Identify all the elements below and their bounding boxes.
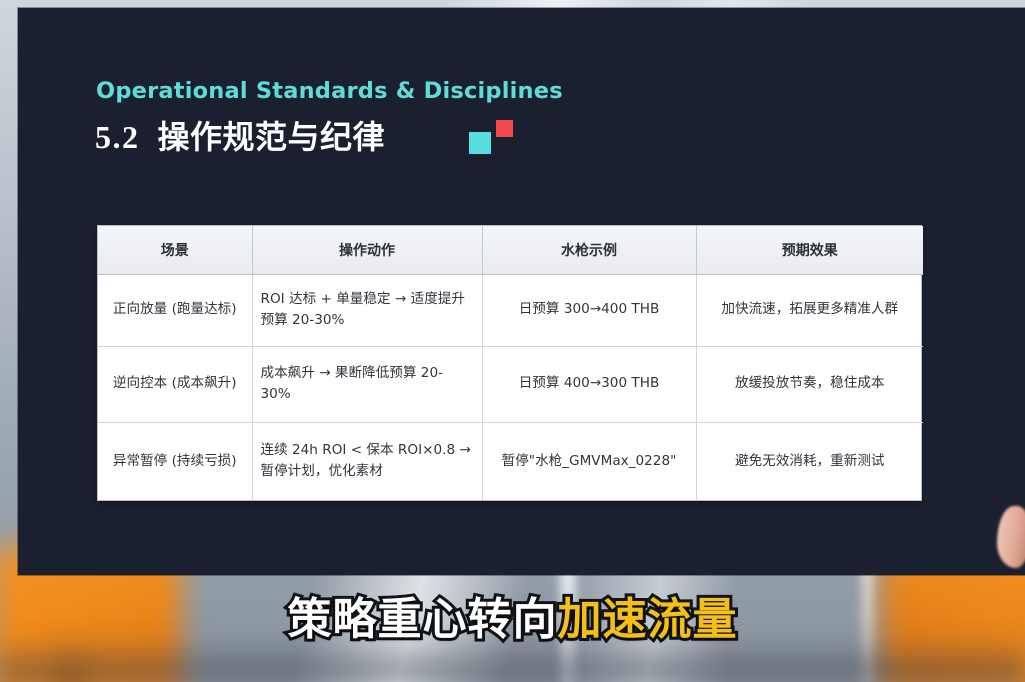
table-body: 正向放量 (跑量达标) ROI 达标 + 单量稳定 → 适度提升预算 20-30… [98, 274, 923, 500]
cell-action: 成本飙升 → 果断降低预算 20-30% [252, 346, 482, 422]
cell-effect: 加快流速，拓展更多精准人群 [696, 274, 923, 346]
standards-table: 场景 操作动作 水枪示例 预期效果 正向放量 (跑量达标) ROI 达标 + 单… [97, 225, 922, 501]
cell-scene: 异常暂停 (持续亏损) [98, 422, 252, 500]
column-header-scene: 场景 [98, 226, 252, 274]
table: 场景 操作动作 水枪示例 预期效果 正向放量 (跑量达标) ROI 达标 + 单… [98, 226, 923, 500]
decor-square-cyan-icon [469, 132, 491, 154]
presentation-slide: Operational Standards & Disciplines 5.2操… [18, 8, 1025, 575]
table-head: 场景 操作动作 水枪示例 预期效果 [98, 226, 923, 274]
video-caption: 策略重心转向加速流量 [0, 598, 1025, 642]
table-row: 逆向控本 (成本飙升) 成本飙升 → 果断降低预算 20-30% 日预算 400… [98, 346, 923, 422]
presenter-hand [997, 506, 1025, 568]
section-number: 5.2 [95, 119, 140, 155]
caption-text-highlight: 加速流量 [558, 594, 738, 645]
cell-action: ROI 达标 + 单量稳定 → 适度提升预算 20-30% [252, 274, 482, 346]
column-header-example: 水枪示例 [482, 226, 696, 274]
cell-scene: 正向放量 (跑量达标) [98, 274, 252, 346]
column-header-effect: 预期效果 [696, 226, 923, 274]
section-title-cn: 操作规范与纪律 [158, 119, 386, 155]
cell-effect: 放缓投放节奏，稳住成本 [696, 346, 923, 422]
table-row: 正向放量 (跑量达标) ROI 达标 + 单量稳定 → 适度提升预算 20-30… [98, 274, 923, 346]
slide-eyebrow: Operational Standards & Disciplines [96, 78, 563, 104]
cell-effect: 避免无效消耗，重新测试 [696, 422, 923, 500]
cell-scene: 逆向控本 (成本飙升) [98, 346, 252, 422]
caption-text-white: 策略重心转向 [288, 594, 558, 645]
table-header-row: 场景 操作动作 水枪示例 预期效果 [98, 226, 923, 274]
page-title: 5.2操作规范与纪律 [95, 112, 385, 158]
cell-example: 暂停"水枪_GMVMax_0228" [482, 422, 696, 500]
cell-example: 日预算 400→300 THB [482, 346, 696, 422]
cell-action: 连续 24h ROI < 保本 ROI×0.8 → 暂停计划，优化素材 [252, 422, 482, 500]
column-header-action: 操作动作 [252, 226, 482, 274]
cell-example: 日预算 300→400 THB [482, 274, 696, 346]
table-row: 异常暂停 (持续亏损) 连续 24h ROI < 保本 ROI×0.8 → 暂停… [98, 422, 923, 500]
decor-square-red-icon [496, 120, 513, 137]
